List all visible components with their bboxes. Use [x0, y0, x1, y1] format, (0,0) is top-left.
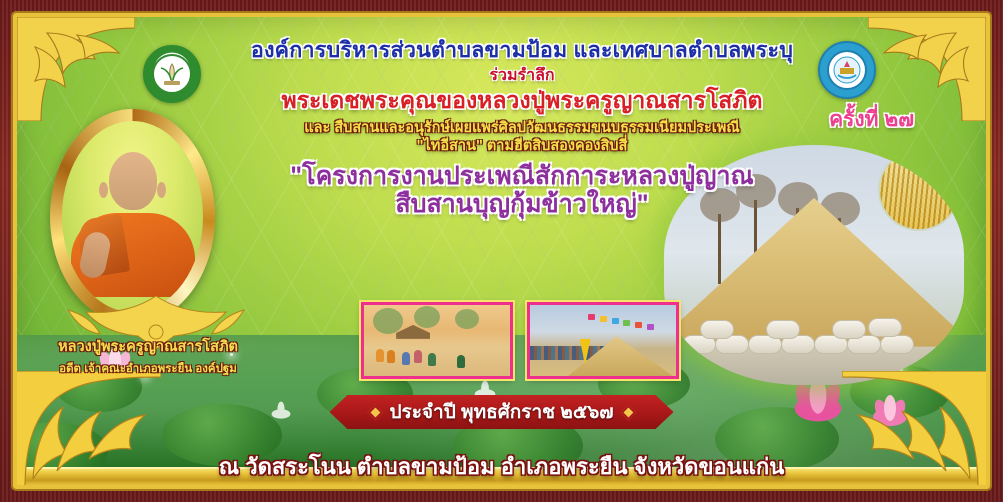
year-ribbon: ประจำปี พุทธศักราช ๒๕๖๗	[329, 395, 673, 429]
festival-banner: องค์การบริหารส่วนตำบลขามป้อม และเทศบาลตำ…	[0, 0, 1003, 502]
golden-rice-stalks-inset	[878, 149, 960, 231]
monk-caption: หลวงปู่พระครูญาณสารโสภิต อดีต เจ้าคณะอำเ…	[23, 335, 273, 378]
honoree-line: พระเดชพระคุณของหลวงปู่พระครูญาณสารโสภิต	[192, 88, 852, 113]
headline-copy: องค์การบริหารส่วนตำบลขามป้อม และเทศบาลตำ…	[192, 39, 852, 218]
lotus-flower-icon	[269, 401, 293, 421]
monk-portrait	[50, 109, 215, 324]
edition-badge: ครั้งที่ ๒๗	[829, 103, 914, 136]
lotus-flower-icon	[792, 380, 844, 424]
seal-emblem-icon	[152, 54, 192, 94]
project-title-line-2: สืบสานบุญกุ้มข้าวใหญ่"	[192, 191, 852, 218]
gold-corner-ornament-icon	[17, 17, 135, 121]
monk-name: หลวงปู่พระครูญาณสารโสภิต	[23, 335, 273, 358]
diamond-ornament-icon	[367, 404, 383, 420]
diamond-ornament-icon	[620, 404, 636, 420]
banner-inner-panel: องค์การบริหารส่วนตำบลขามป้อม และเทศบาลตำ…	[13, 13, 990, 489]
year-text: ประจำปี พุทธศักราช ๒๕๖๗	[389, 397, 613, 427]
commemorate-line: ร่วมรำลึก	[192, 67, 852, 84]
village-ceremony-photo	[361, 302, 513, 379]
project-title-line-1: "โครงการงานประเพณีสักการะหลวงปู่ญาณ	[192, 163, 852, 190]
rice-heap-festival-photo	[527, 302, 679, 379]
lotus-flower-icon	[870, 395, 910, 429]
organization-line: องค์การบริหารส่วนตำบลขามป้อม และเทศบาลตำ…	[192, 39, 852, 62]
monk-title: อดีต เจ้าคณะอำเภอพระยืน องค์ปฐม	[23, 360, 273, 378]
venue-line: ณ วัดสระโนน ตำบลขามป้อม อำเภอพระยืน จังห…	[17, 449, 986, 484]
portrait-photo	[62, 121, 203, 312]
purpose-line-2: "ไทอีสาน" ตามฮีตสิบสองคองสิบสี่	[192, 139, 852, 155]
purpose-line-1: และ สืบสานและอนุรักษ์เผยแพร่ศิลปวัฒนธรรม…	[192, 121, 852, 137]
